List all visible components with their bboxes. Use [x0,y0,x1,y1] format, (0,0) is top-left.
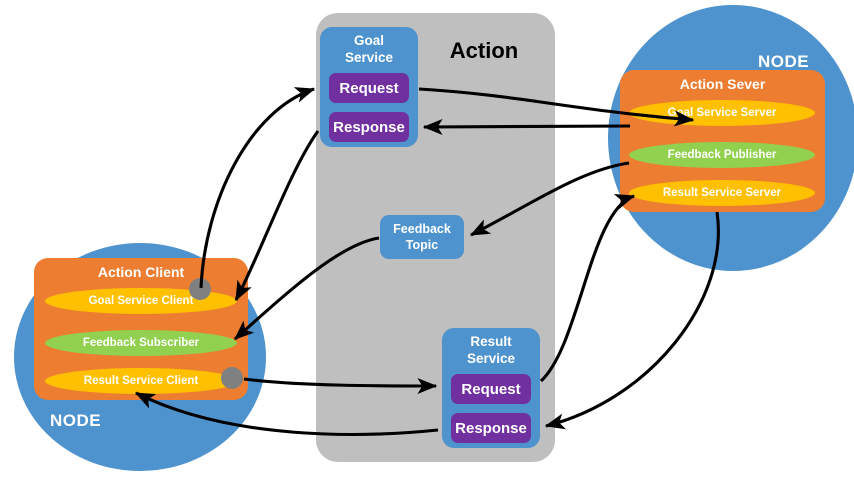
result-service-box: Result Service Request Response [442,328,540,448]
action-server-panel: Action Sever Goal Service Server Feedbac… [620,70,825,212]
goal-service-server-pill[interactable]: Goal Service Server [629,100,815,126]
goal-request-connector-dot [189,278,211,300]
feedback-topic-line2: Topic [406,238,438,252]
goal-service-title: Goal Service [320,32,418,66]
diagram-canvas: Action NODE NODE Action Client Goal Serv… [0,0,854,480]
result-service-title-line2: Service [467,351,515,366]
action-server-title: Action Sever [620,76,825,92]
goal-service-title-line1: Goal [354,33,384,48]
feedback-topic-box[interactable]: Feedback Topic [380,215,464,259]
server-node-label: NODE [758,52,809,72]
result-request-connector-dot [221,367,243,389]
goal-service-request-chip[interactable]: Request [329,73,409,103]
feedback-topic-line1: Feedback [393,222,451,236]
result-service-title-line1: Result [470,334,511,349]
feedback-subscriber-pill[interactable]: Feedback Subscriber [45,330,237,356]
goal-service-title-line2: Service [345,50,393,65]
client-node-label: NODE [50,411,101,431]
feedback-topic-label: Feedback Topic [393,221,451,253]
result-service-request-chip[interactable]: Request [451,374,531,404]
result-service-response-chip[interactable]: Response [451,413,531,443]
action-client-title: Action Client [34,264,248,280]
feedback-publisher-pill[interactable]: Feedback Publisher [629,142,815,168]
goal-service-box: Goal Service Request Response [320,27,418,147]
result-service-server-pill[interactable]: Result Service Server [629,180,815,206]
action-client-panel: Action Client Goal Service Client Feedba… [34,258,248,400]
action-title: Action [424,38,544,64]
arrow-goal-response-to-client [236,131,318,300]
result-service-title: Result Service [442,333,540,367]
goal-service-response-chip[interactable]: Response [329,112,409,142]
result-service-client-pill[interactable]: Result Service Client [45,368,237,394]
